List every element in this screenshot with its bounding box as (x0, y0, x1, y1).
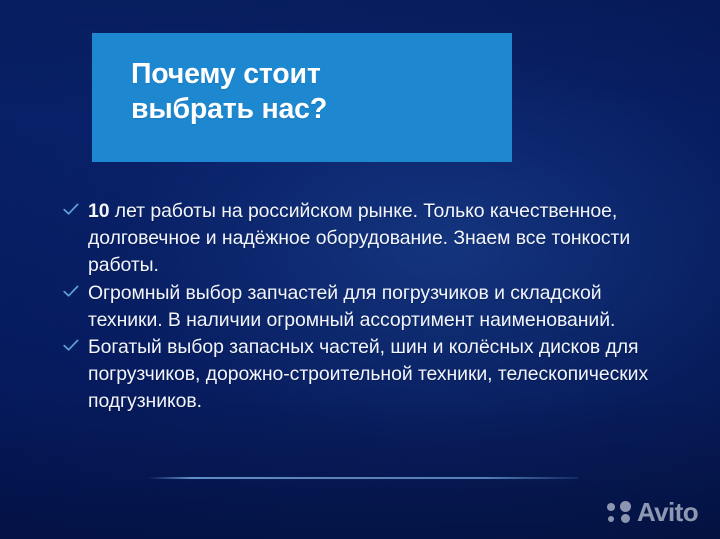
check-icon (63, 334, 88, 352)
avito-wordmark: Avito (637, 499, 698, 525)
check-icon (63, 280, 88, 298)
list-item: Богатый выбор запасных частей, шин и кол… (63, 334, 675, 416)
check-icon (63, 198, 88, 216)
title-banner: Почему стоит выбрать нас? (92, 33, 512, 162)
list-item-body: лет работы на российском рынке. Только к… (88, 200, 630, 276)
list-item-text: 10 лет работы на российском рынке. Тольк… (88, 198, 675, 280)
divider (148, 477, 578, 479)
slide-title: Почему стоит выбрать нас? (131, 57, 491, 127)
benefits-list: 10 лет работы на российском рынке. Тольк… (63, 198, 675, 416)
avito-dots-icon (607, 501, 631, 523)
presentation-slide: Почему стоит выбрать нас? 10 лет работы … (0, 0, 720, 539)
list-item-text: Огромный выбор запчастей для погрузчиков… (88, 280, 675, 334)
list-item-lead: 10 (88, 200, 109, 222)
list-item: 10 лет работы на российском рынке. Тольк… (63, 198, 675, 280)
list-item-text: Богатый выбор запасных частей, шин и кол… (88, 334, 675, 416)
list-item: Огромный выбор запчастей для погрузчиков… (63, 280, 675, 334)
avito-watermark: Avito (607, 499, 698, 525)
